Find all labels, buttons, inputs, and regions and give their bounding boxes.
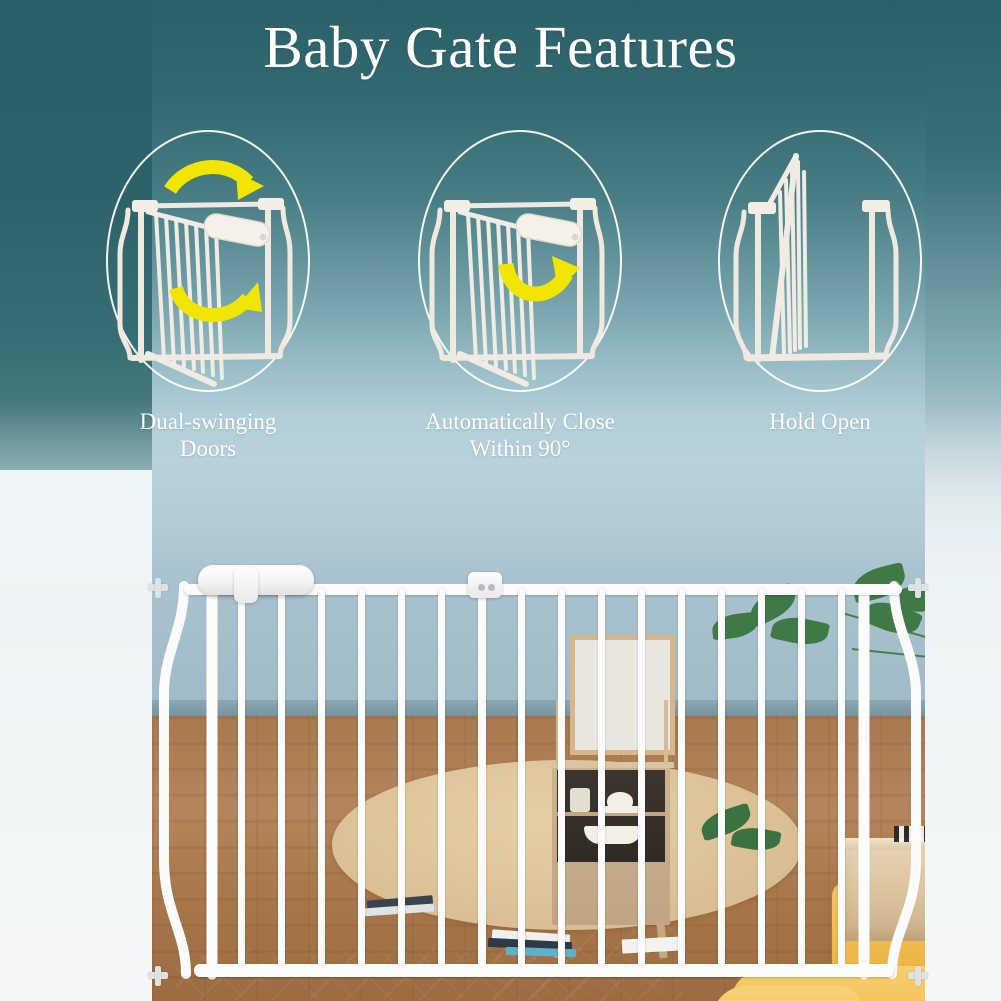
feature-automatically-close[interactable]: Automatically Close Within 90° [382,118,658,462]
gate-bar [438,588,445,966]
left-floor [0,952,152,1001]
feature-caption-line2: Doors [70,435,346,462]
feature-ring [718,130,922,392]
gate-with-auto-close-arrow-icon [420,132,620,390]
gate-bar [678,588,685,966]
gate-side-posts [150,560,930,1001]
feature-caption: Hold Open [682,408,958,435]
gate-bar [598,588,605,966]
gate-handle[interactable] [198,565,314,595]
features-row: Dual-swinging Doors [0,118,1001,458]
feature-dual-swinging-doors[interactable]: Dual-swinging Doors [70,118,346,462]
feature-caption: Automatically Close Within 90° [382,408,658,462]
feature-ring [106,130,310,392]
gate-bar [798,588,805,966]
feature-caption: Dual-swinging Doors [70,408,346,462]
gate-handle-knob[interactable] [234,567,258,603]
feature-caption-line1: Hold Open [682,408,958,435]
infographic-canvas: Baby Gate Features [0,0,1001,1001]
gate-bar [358,588,365,966]
gate-latch[interactable] [468,572,502,598]
gate-held-open-icon [720,132,920,390]
gate-bar [278,588,285,966]
scalloped-mirror [0,655,50,815]
gate-bottom-rail [194,964,894,977]
right-floor [925,958,1001,1001]
feature-hold-open[interactable]: Hold Open [682,118,958,435]
gate-bar [638,588,645,966]
gate-bar [518,588,525,966]
handle-barrel [202,212,271,248]
page-title: Baby Gate Features [0,12,1001,82]
gate-door-edge-post [478,588,486,966]
cabinet-woven-disc [4,868,80,938]
gate-bar [718,588,725,966]
gate-bar [398,588,405,966]
gate-with-two-swing-arrows-icon [108,132,308,390]
gate-bar [838,588,845,966]
feature-caption-line1: Automatically Close [382,408,658,435]
feature-caption-line1: Dual-swinging [70,408,346,435]
feature-caption-line2: Within 90° [382,435,658,462]
gate-bar [758,588,765,966]
handle-barrel [514,212,583,248]
mirror-glass [0,655,50,815]
gate-bar [558,588,565,966]
gate-bar [238,588,245,966]
baby-gate [150,560,930,1001]
gate-bar [318,588,325,966]
feature-ring [418,130,622,392]
